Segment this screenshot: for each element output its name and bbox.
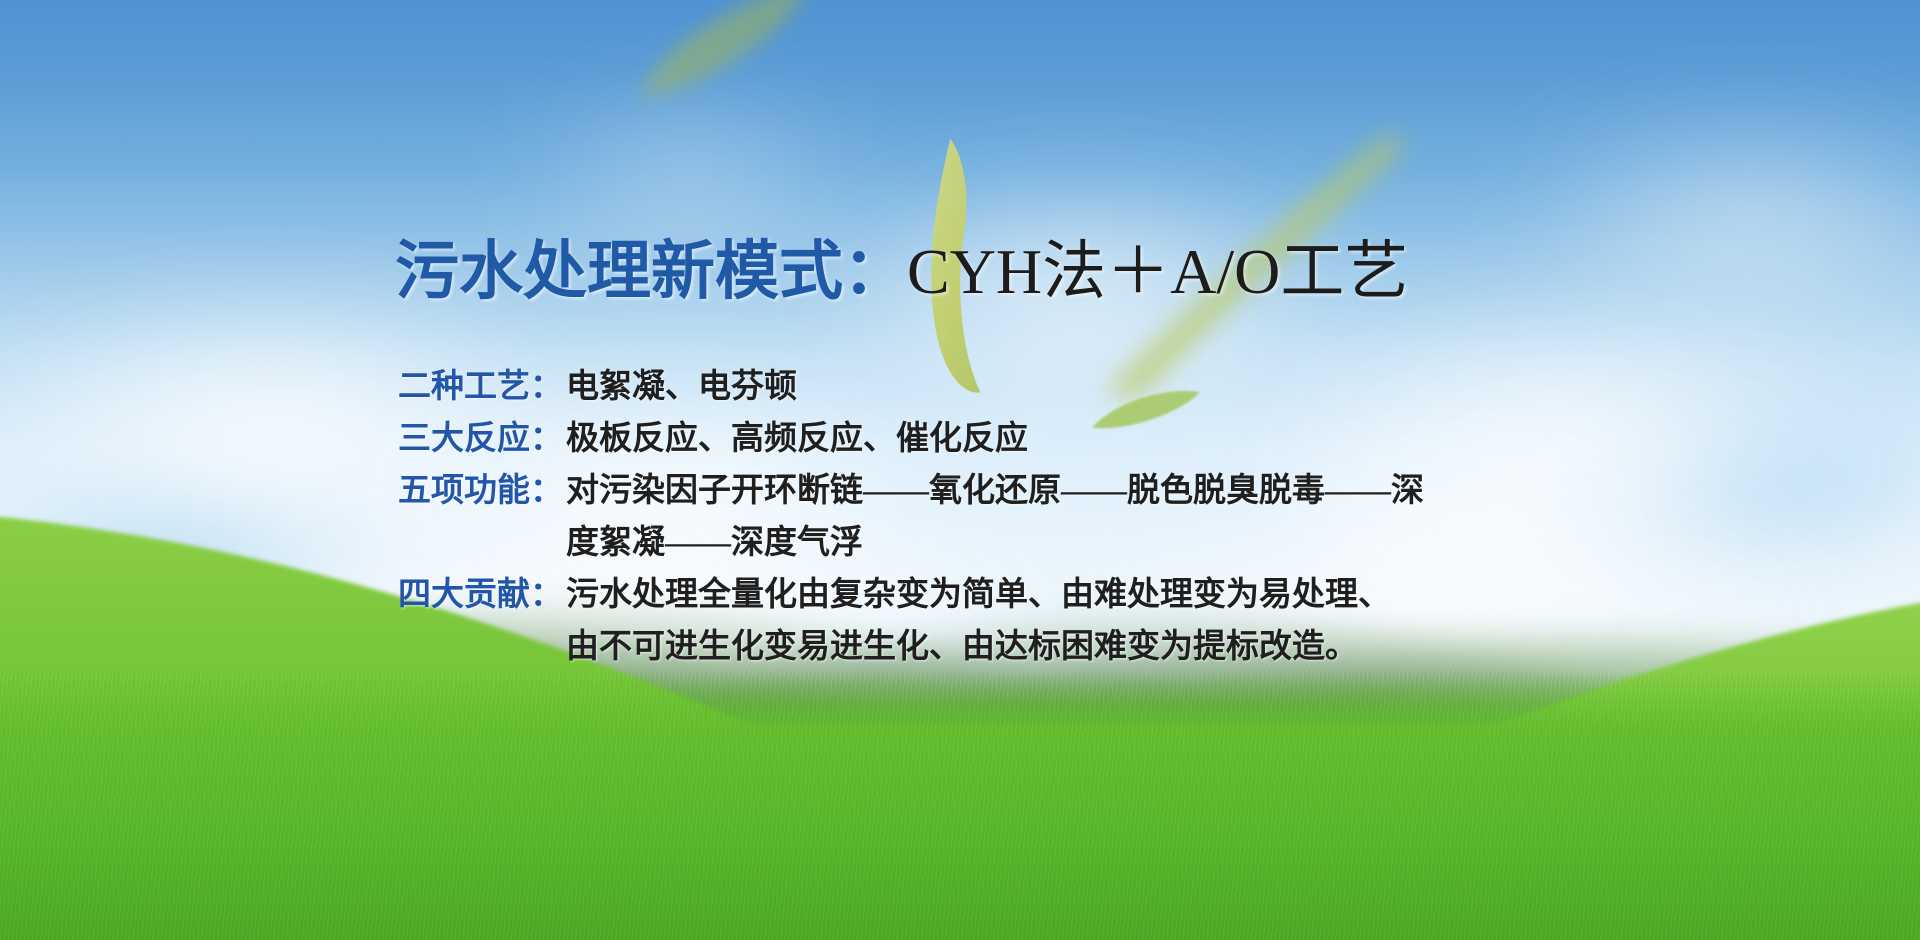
bullet-text: 电絮凝、电芬顿 — [566, 361, 797, 413]
bullet-row: 二种工艺： 电絮凝、电芬顿 — [398, 361, 1424, 413]
bullet-row: 四大贡献： 污水处理全量化由复杂变为简单、由难处理变为易处理、 — [398, 569, 1424, 621]
page-title-en: CYH法＋A/O工艺 — [907, 236, 1408, 307]
slide-content: 污水处理新模式：CYH法＋A/O工艺 二种工艺： 电絮凝、电芬顿 三大反应： 极… — [0, 0, 1920, 940]
bullet-row: 三大反应： 极板反应、高频反应、催化反应 — [398, 413, 1424, 465]
bullet-label: 五项功能： — [398, 465, 566, 517]
slide-canvas: 污水处理新模式：CYH法＋A/O工艺 二种工艺： 电絮凝、电芬顿 三大反应： 极… — [0, 0, 1920, 940]
bullet-row-continuation: 五项功能： 度絮凝——深度气浮 — [398, 517, 1424, 569]
bullet-text: 对污染因子开环断链——氧化还原——脱色脱臭脱毒——深 — [566, 465, 1424, 517]
bullet-row: 五项功能： 对污染因子开环断链——氧化还原——脱色脱臭脱毒——深 — [398, 465, 1424, 517]
bullet-text: 度絮凝——深度气浮 — [566, 517, 863, 569]
bullet-list: 二种工艺： 电絮凝、电芬顿 三大反应： 极板反应、高频反应、催化反应 五项功能：… — [398, 361, 1424, 673]
page-title: 污水处理新模式：CYH法＋A/O工艺 — [395, 236, 1408, 308]
bullet-row-continuation: 四大贡献： 由不可进生化变易进生化、由达标困难变为提标改造。 — [398, 621, 1424, 673]
bullet-label: 三大反应： — [398, 413, 566, 465]
bullet-label: 二种工艺： — [398, 361, 566, 413]
bullet-label: 四大贡献： — [398, 569, 566, 621]
bullet-text: 极板反应、高频反应、催化反应 — [566, 413, 1028, 465]
bullet-text: 由不可进生化变易进生化、由达标困难变为提标改造。 — [566, 621, 1358, 673]
page-title-cn: 污水处理新模式： — [395, 236, 907, 307]
bullet-text: 污水处理全量化由复杂变为简单、由难处理变为易处理、 — [566, 569, 1391, 621]
